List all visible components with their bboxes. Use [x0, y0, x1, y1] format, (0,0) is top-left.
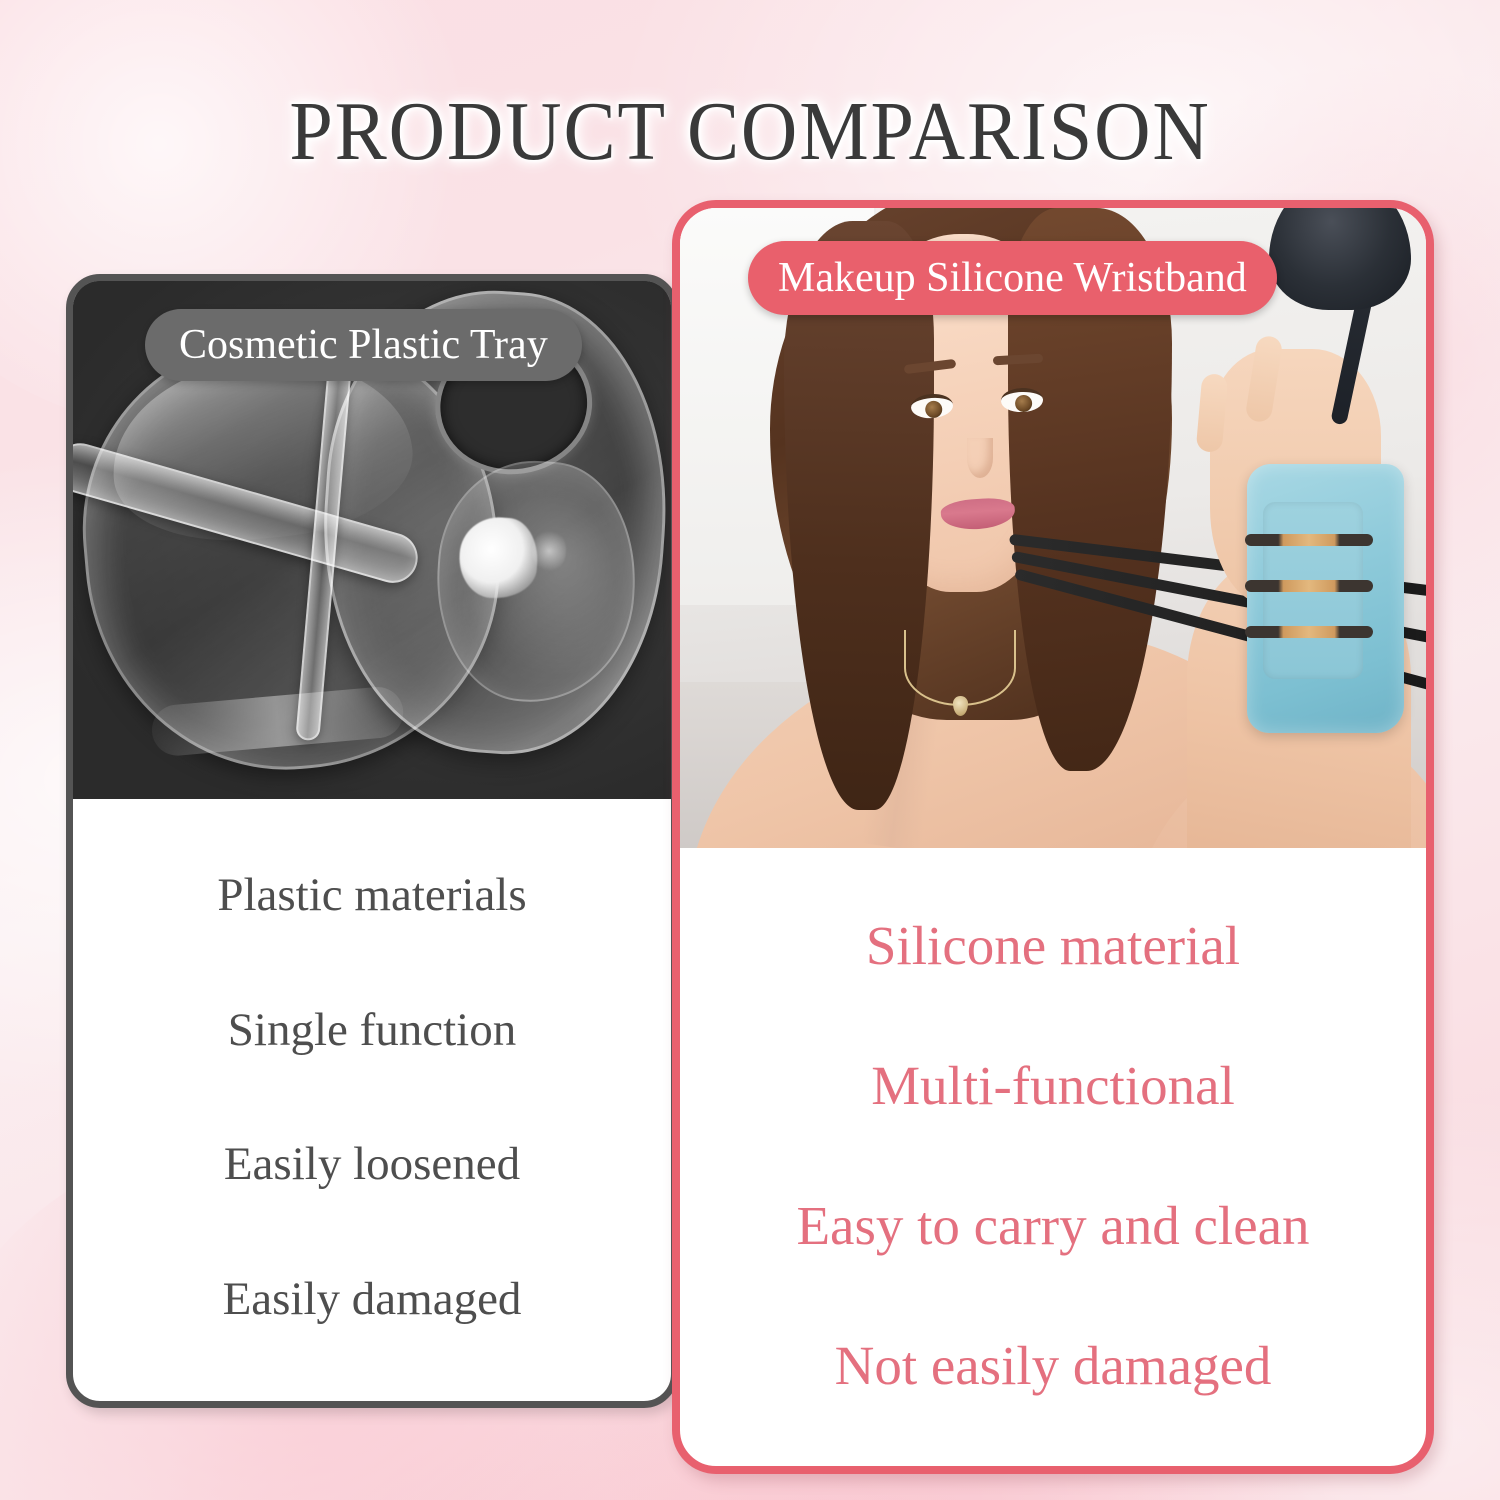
iris	[925, 400, 943, 418]
applicator-sponge	[1245, 626, 1373, 638]
comparison-card-left: Plastic materials Single function Easily…	[66, 274, 678, 1408]
infographic-canvas: PRODUCT COMPARISON Plastic materials Sin…	[0, 0, 1500, 1500]
feature-list-left: Plastic materials Single function Easily…	[73, 799, 671, 1401]
iris	[1015, 395, 1033, 413]
feature-item: Easily damaged	[93, 1233, 651, 1368]
comparison-card-right: Silicone material Multi-functional Easy …	[672, 200, 1434, 1474]
model-necklace	[904, 630, 1016, 706]
page-title: PRODUCT COMPARISON	[53, 90, 1448, 174]
feature-item: Not easily damaged	[698, 1296, 1408, 1436]
feature-item: Easily loosened	[93, 1098, 651, 1233]
feature-item: Single function	[93, 964, 651, 1099]
feature-item: Silicone material	[698, 876, 1408, 1016]
feature-item: Plastic materials	[93, 829, 651, 964]
product-badge-left: Cosmetic Plastic Tray	[145, 309, 582, 381]
tray-mixing-well	[429, 455, 644, 709]
spilled-powder	[457, 515, 540, 601]
powder-brush-head	[1269, 208, 1411, 310]
feature-item: Multi-functional	[698, 1016, 1408, 1156]
applicator-sponge	[1245, 534, 1373, 546]
silicone-wristband	[1247, 464, 1404, 733]
wristband-holder-plate	[1263, 502, 1363, 679]
feature-item: Easy to carry and clean	[698, 1156, 1408, 1296]
feature-list-right: Silicone material Multi-functional Easy …	[680, 848, 1426, 1466]
product-badge-right: Makeup Silicone Wristband	[748, 241, 1277, 315]
applicator-sponge	[1245, 580, 1373, 592]
